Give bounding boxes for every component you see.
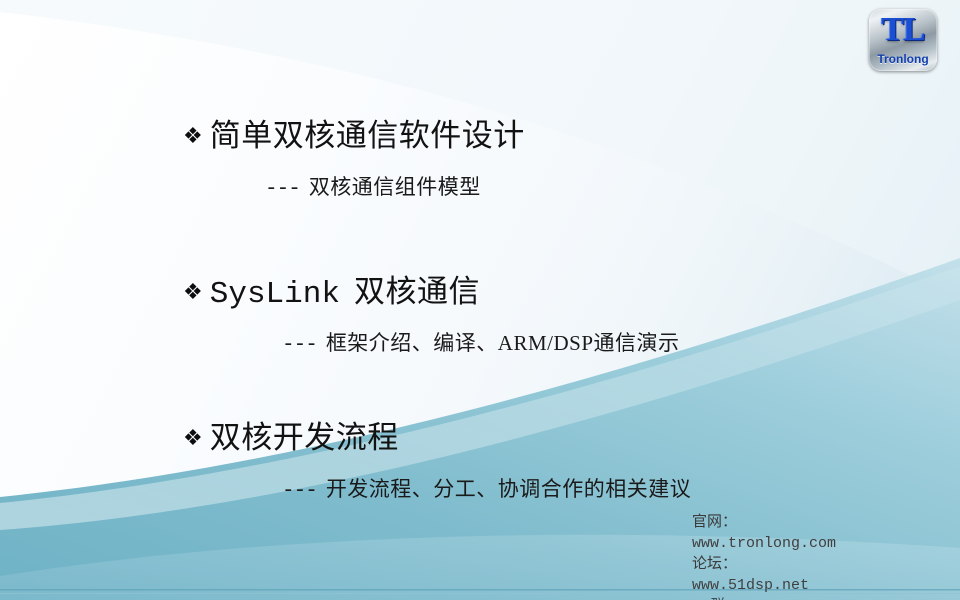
forum-label: 论坛：	[692, 554, 836, 575]
bullet-subtitle-1: ---双核通信组件模型	[265, 172, 481, 205]
slide-canvas: TL Tronlong ❖ 简单双核通信软件设计 ---双核通信组件模型 ❖ S…	[0, 0, 960, 600]
subtitle-text-1: 双核通信组件模型	[309, 175, 481, 199]
bullet-heading-3: ❖ 双核开发流程	[183, 418, 399, 458]
subtitle-dashes-3: ---	[282, 480, 317, 503]
bullet-item-2: ❖ SysLink 双核通信	[183, 272, 480, 315]
website-url[interactable]: www.tronlong.com	[692, 533, 836, 554]
bullet-title-3: 双核开发流程	[210, 418, 399, 458]
floret-bullet-icon: ❖	[183, 282, 203, 304]
bullet-heading-1: ❖ 简单双核通信软件设计	[183, 116, 525, 156]
bullet-item-1: ❖ 简单双核通信软件设计	[183, 116, 525, 156]
bullet-subtitle-2: ---框架介绍、编译、ARM/DSP通信演示	[282, 328, 680, 361]
floret-bullet-icon: ❖	[183, 428, 203, 450]
bullet-title-2-latin: SysLink	[210, 275, 340, 315]
bullet-item-3: ❖ 双核开发流程	[183, 418, 399, 458]
bullet-heading-2: ❖ SysLink 双核通信	[183, 272, 480, 315]
subtitle-dashes-1: ---	[265, 178, 300, 201]
contact-info-block: 官网： www.tronlong.com 论坛： www.51dsp.net Q…	[692, 512, 836, 600]
bullet-title-2-cjk: 双核通信	[354, 272, 480, 312]
subtitle-text-3: 开发流程、分工、协调合作的相关建议	[326, 477, 692, 501]
bullet-title-1: 简单双核通信软件设计	[210, 116, 525, 156]
bullet-subtitle-3: ---开发流程、分工、协调合作的相关建议	[282, 474, 691, 507]
clipped-contact-line: QQ群	[692, 596, 836, 600]
floret-bullet-icon: ❖	[183, 126, 203, 148]
slide-content: ❖ 简单双核通信软件设计 ---双核通信组件模型 ❖ SysLink 双核通信 …	[0, 0, 960, 600]
forum-url[interactable]: www.51dsp.net	[692, 575, 836, 596]
subtitle-dashes-2: ---	[282, 334, 317, 357]
website-label: 官网：	[692, 512, 836, 533]
subtitle-text-2: 框架介绍、编译、ARM/DSP通信演示	[326, 331, 680, 355]
